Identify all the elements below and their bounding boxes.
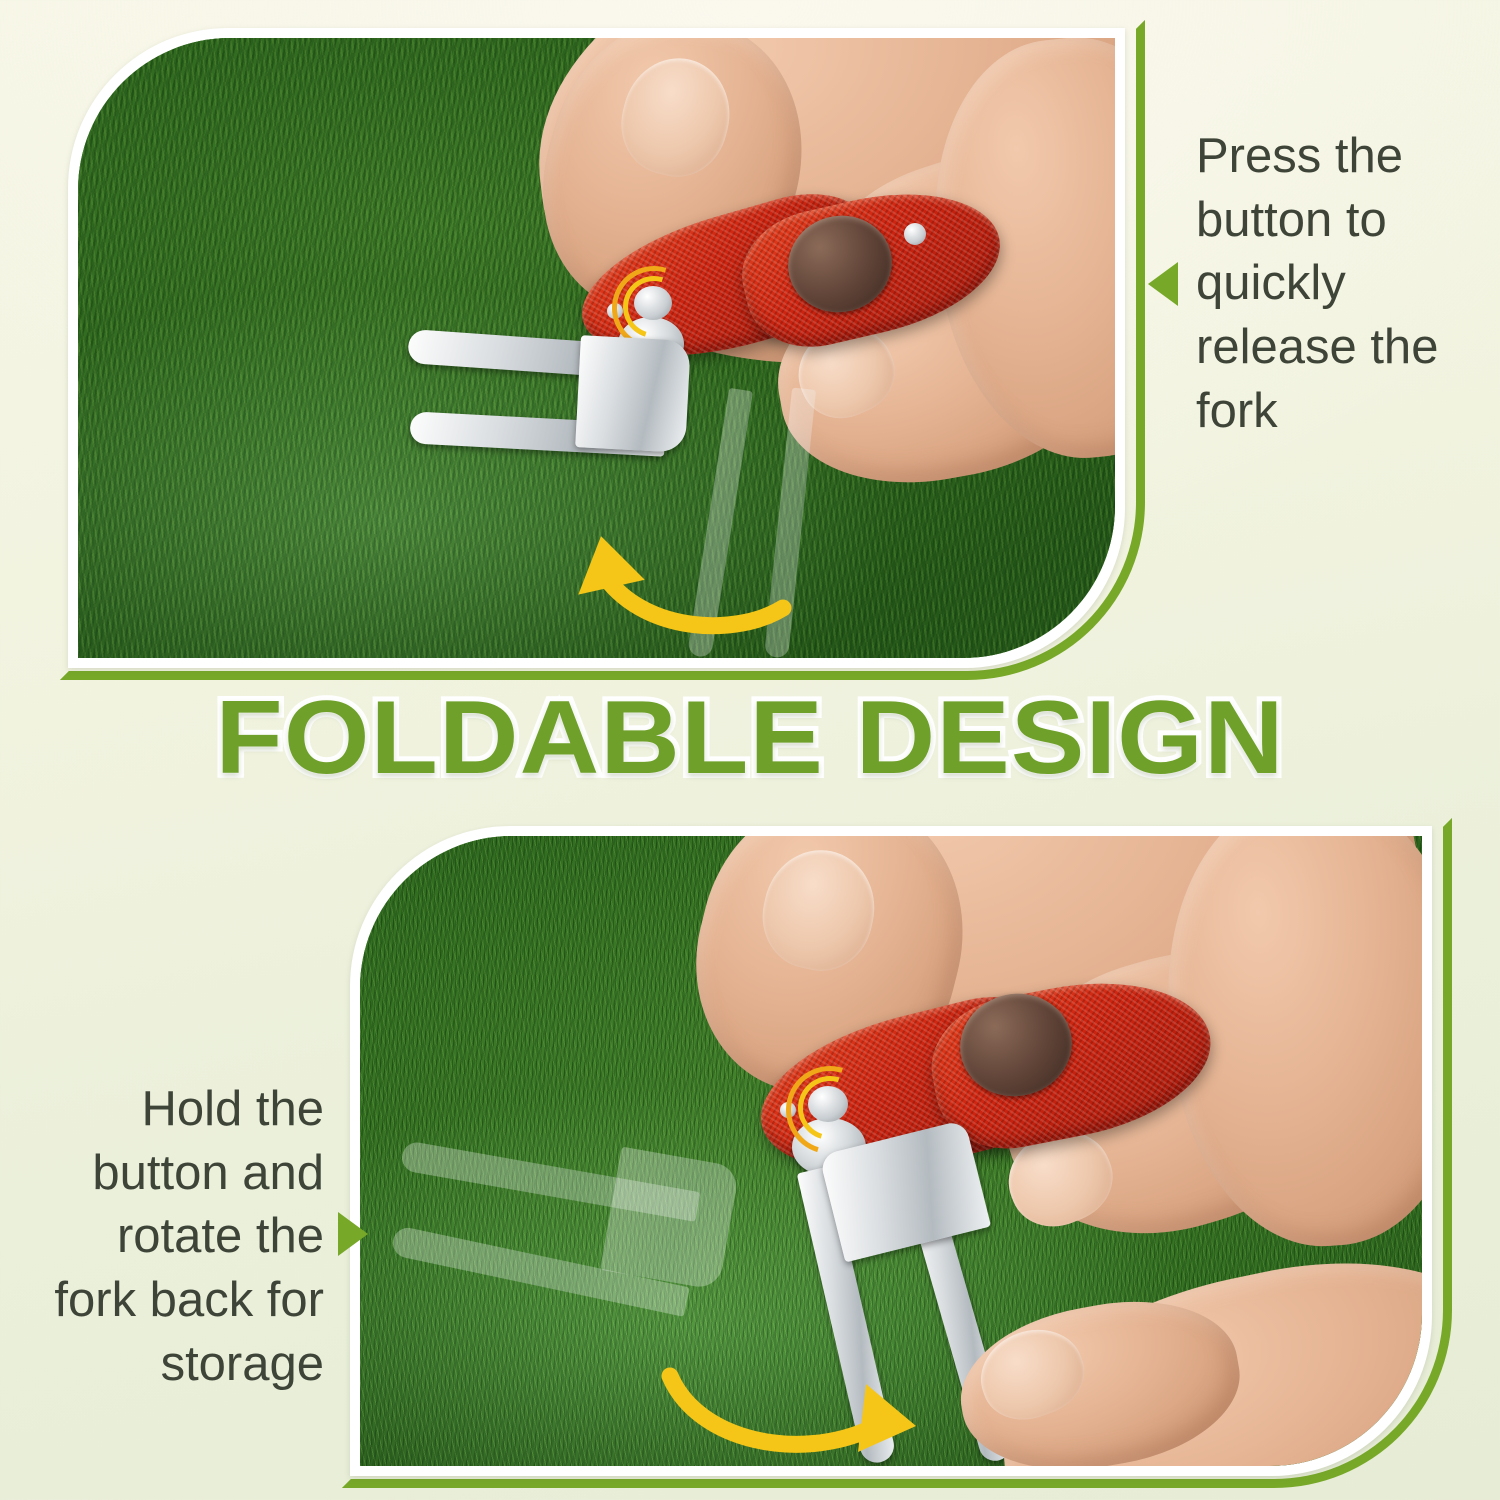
caption-top: Press the button to quickly release the … <box>1196 125 1466 443</box>
fork-neck <box>575 335 691 453</box>
page-title: FOLDABLE DESIGN <box>0 686 1500 790</box>
rotation-arrow-bottom <box>650 1266 980 1466</box>
divot-tool-scene-bottom <box>360 836 1422 1466</box>
left-triangle-icon <box>1148 262 1178 306</box>
panel-top-photo <box>78 38 1115 658</box>
rotation-arrow-top <box>498 438 798 638</box>
panel-bottom-photo <box>360 836 1422 1466</box>
divot-tool-scene-top <box>78 38 1115 658</box>
handle-screw <box>904 223 926 245</box>
panel-top <box>68 28 1125 668</box>
right-triangle-icon <box>338 1212 368 1256</box>
caption-bottom: Hold the button and rotate the fork back… <box>40 1078 324 1396</box>
panel-bottom <box>350 826 1432 1476</box>
